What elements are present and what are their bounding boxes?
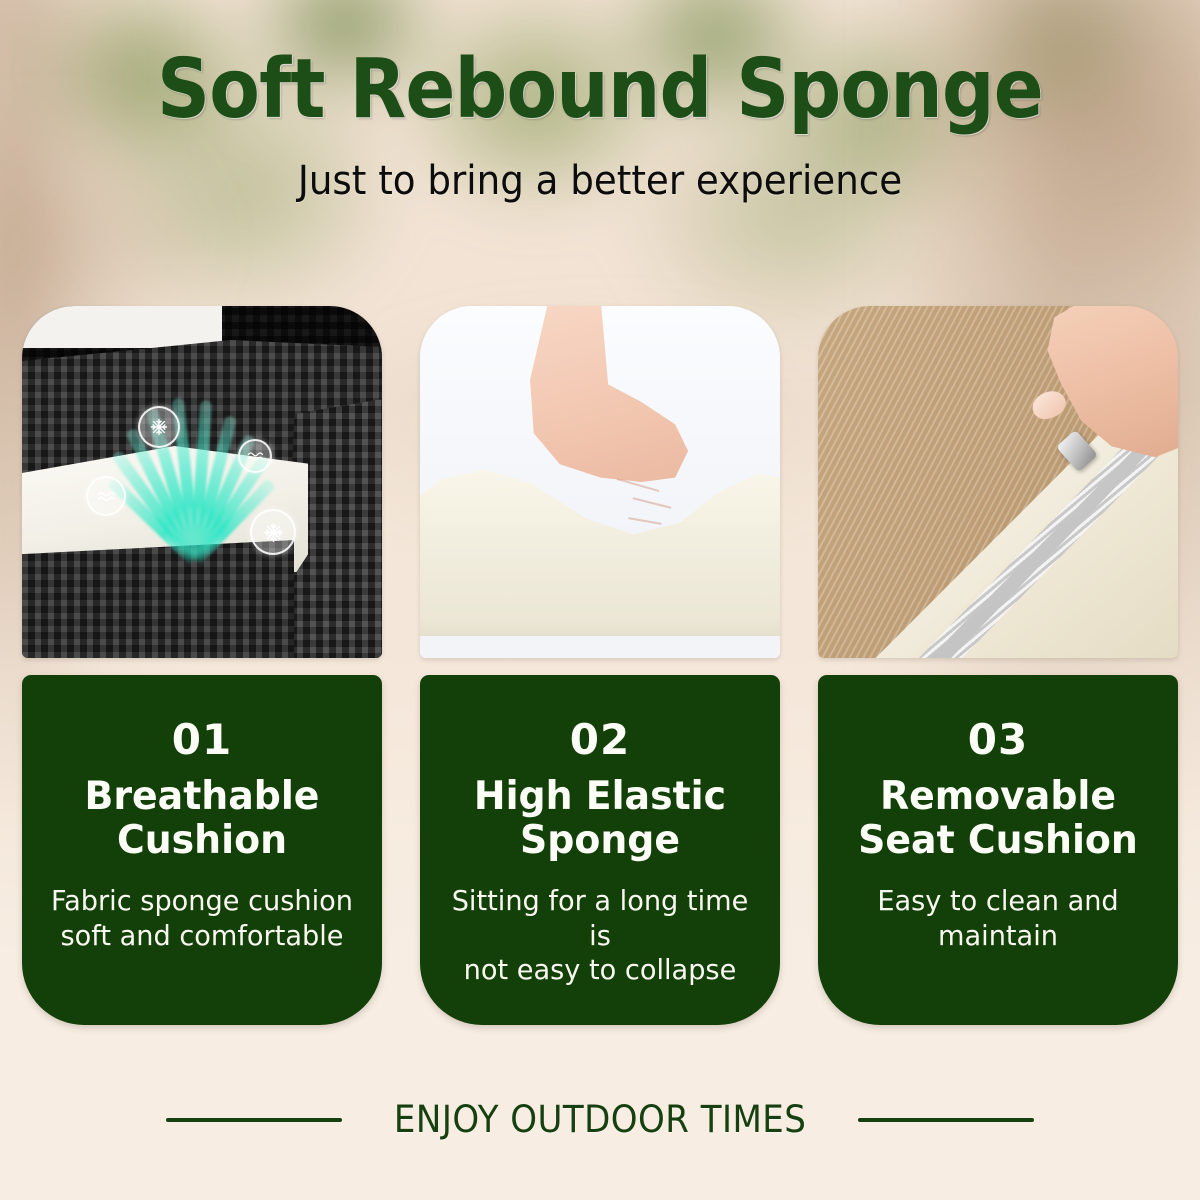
infographic-content: Soft Rebound Sponge Just to bring a bett…: [0, 0, 1200, 1200]
feature-desc-line-2: maintain: [839, 919, 1157, 953]
footer-rule-left: [166, 1118, 342, 1122]
feature-title: High Elastic Sponge: [441, 775, 759, 862]
wave-icon: [238, 439, 272, 473]
feature-card-3: 03 Removable Seat Cushion Easy to clean …: [818, 675, 1178, 1025]
feature-number: 02: [436, 719, 764, 761]
snowflake-icon: [138, 406, 180, 448]
feature-title-line-2: Sponge: [441, 819, 759, 863]
snowflake-icon: [250, 509, 296, 555]
feature-column-3: 03 Removable Seat Cushion Easy to clean …: [818, 306, 1178, 1025]
feature-desc-line-1: Easy to clean and: [839, 884, 1157, 918]
feature-column-1: 01 Breathable Cushion Fabric sponge cush…: [22, 306, 382, 1025]
footer-rule-right: [858, 1118, 1034, 1122]
feature-number: 01: [38, 719, 366, 761]
wave-icon: [86, 476, 126, 516]
feature-title-line-1: Removable: [839, 775, 1157, 819]
feature-title-line-1: High Elastic: [441, 775, 759, 819]
feature-number: 03: [834, 719, 1162, 761]
feature-description: Sitting for a long time is not easy to c…: [441, 884, 759, 986]
header: Soft Rebound Sponge Just to bring a bett…: [0, 48, 1200, 204]
feature-title-line-1: Breathable: [43, 775, 361, 819]
feature-desc-line-2: soft and comfortable: [43, 919, 361, 953]
feature-photo-breathable-cushion: [22, 306, 382, 658]
feature-photo-high-elastic-sponge: [420, 306, 780, 658]
chair-front-panel: [22, 540, 294, 658]
feature-desc-line-2: not easy to collapse: [441, 953, 759, 987]
photo-base-strip: [420, 636, 780, 658]
feature-card-2: 02 High Elastic Sponge Sitting for a lon…: [420, 675, 780, 1025]
feature-title: Removable Seat Cushion: [839, 775, 1157, 862]
feature-desc-line-1: Fabric sponge cushion: [43, 884, 361, 918]
footer-tagline: ENJOY OUTDOOR TIMES: [394, 1098, 806, 1141]
feature-columns: 01 Breathable Cushion Fabric sponge cush…: [22, 306, 1178, 1025]
feature-desc-line-1: Sitting for a long time is: [441, 884, 759, 952]
feature-title: Breathable Cushion: [43, 775, 361, 862]
page-subtitle: Just to bring a better experience: [42, 158, 1158, 204]
feature-title-line-2: Cushion: [43, 819, 361, 863]
feature-title-line-2: Seat Cushion: [839, 819, 1157, 863]
page-title: Soft Rebound Sponge: [60, 48, 1140, 132]
footer: ENJOY OUTDOOR TIMES: [0, 1098, 1200, 1141]
feature-column-2: 02 High Elastic Sponge Sitting for a lon…: [420, 306, 780, 1025]
feature-description: Fabric sponge cushion soft and comfortab…: [43, 884, 361, 952]
feature-card-1: 01 Breathable Cushion Fabric sponge cush…: [22, 675, 382, 1025]
feature-photo-removable-seat-cushion: [818, 306, 1178, 658]
photo-background-strip: [22, 306, 222, 348]
feature-description: Easy to clean and maintain: [839, 884, 1157, 952]
